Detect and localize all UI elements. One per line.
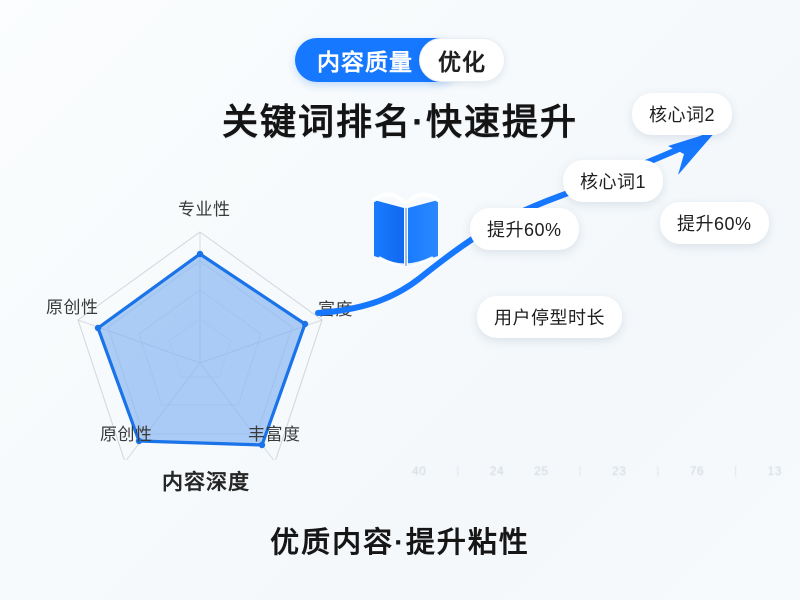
slide-canvas: 内容质量 优化 关键词排名·快速提升 [0,0,800,600]
tick-label: 24 [490,464,504,478]
radar-axis-label-left: 原创性 [46,293,99,318]
pill-uplift-right[interactable]: 提升60% [660,202,769,244]
pill-keyword-1[interactable]: 核心词1 [563,160,663,202]
tick-label: 25 [534,464,548,478]
radar-axis-label-bottom-right: 丰富度 [248,420,301,445]
tick-label: 13 [768,464,782,478]
badge-optimize: 优化 [419,38,505,82]
tick-label: 40 [412,464,426,478]
tick-label: 23 [612,464,626,478]
tick-mark: | [456,465,459,477]
tick-mark: | [656,465,659,477]
pill-keyword-2[interactable]: 核心词2 [632,93,732,135]
radar-axis-label-right: 富度 [318,295,353,320]
header-badge-group: 内容质量 优化 [0,38,800,82]
tick-mark: | [734,465,737,477]
radar-axis-label-top: 专业性 [178,195,231,220]
radar-chart-caption: 内容深度 [162,466,250,496]
radar-chart: 专业性 富度 丰富度 原创性 原创性 [28,190,368,460]
pill-dwell-time[interactable]: 用户停型时长 [477,296,622,338]
radar-axis-label-bottom-left: 原创性 [100,420,153,445]
radar-chart-svg [28,190,368,460]
pill-uplift-left[interactable]: 提升60% [470,208,579,250]
footer-title: 优质内容·提升粘性 [0,519,800,561]
faint-tick-axis: 40 | 24 25 | 23 | 76 | 13 [412,464,782,478]
tick-label: 76 [690,464,704,478]
tick-mark: | [579,465,582,477]
open-book-icon [370,186,442,274]
